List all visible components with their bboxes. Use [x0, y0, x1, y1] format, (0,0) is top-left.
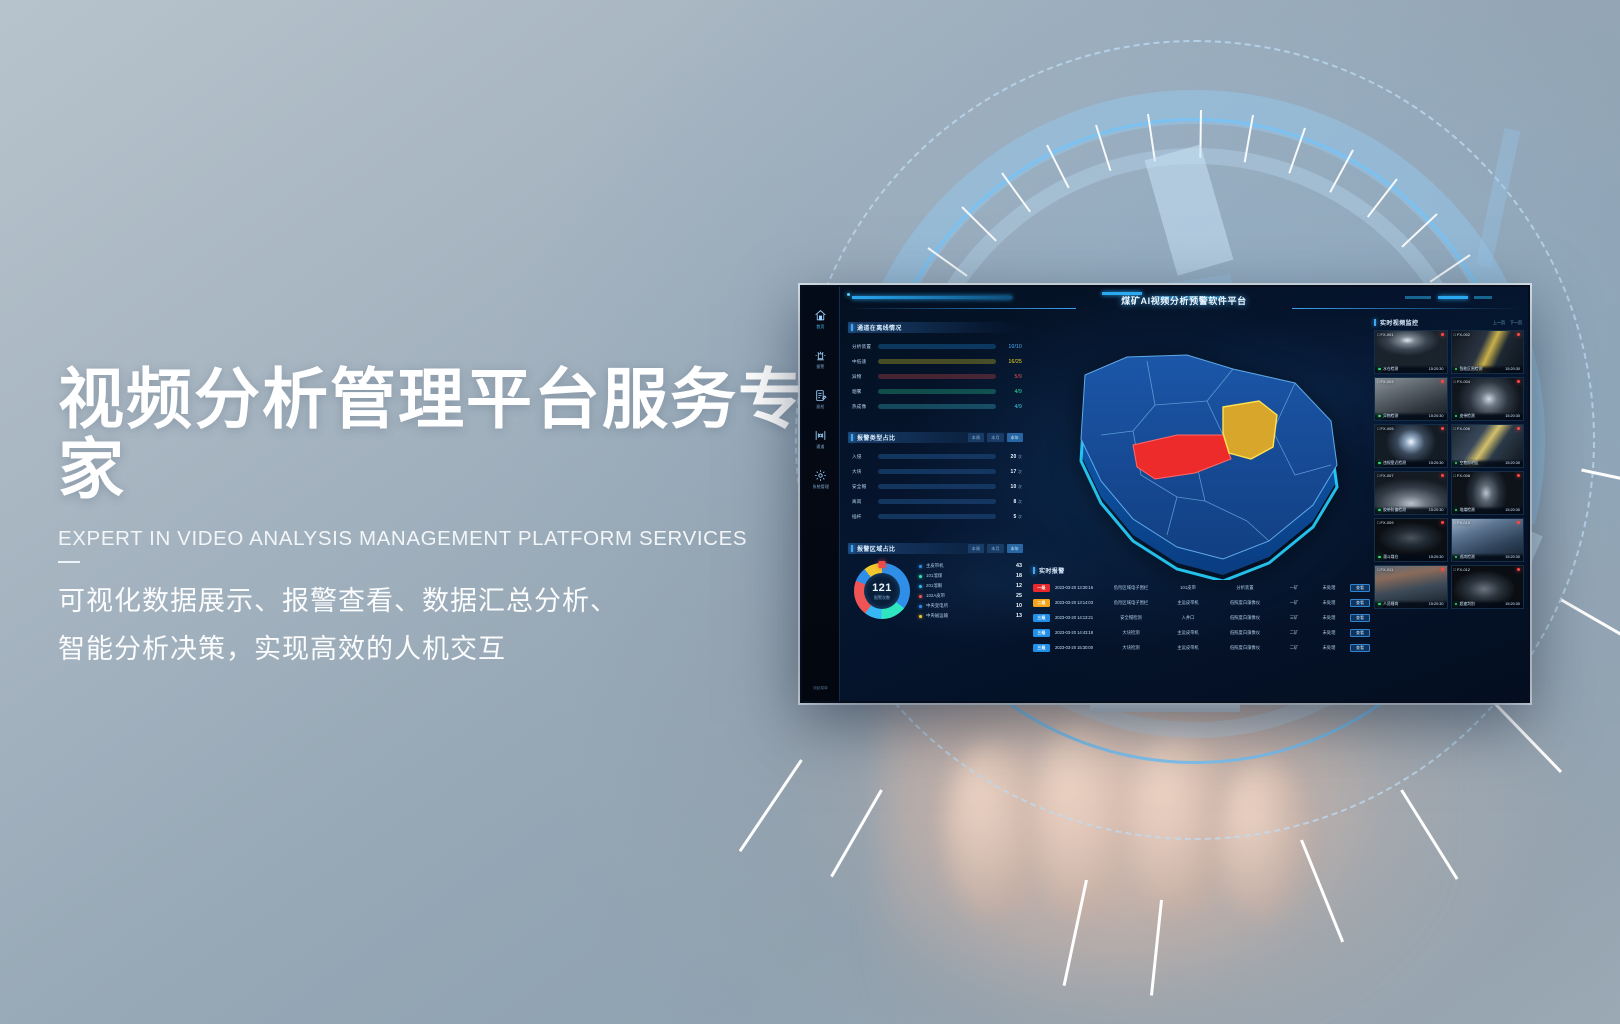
- channel-row-value: 16/25: [996, 359, 1022, 365]
- alarm-area-donut-chart[interactable]: 121 报警次数: [854, 563, 910, 619]
- channel-row: 异物5/9: [852, 369, 1022, 384]
- camera-code: □ FX-011: [1377, 568, 1393, 572]
- hero-divider: [58, 561, 80, 563]
- status-led-icon: [1378, 603, 1381, 606]
- camera-name: 水仓检测: [1383, 367, 1398, 372]
- hud-tick: [1329, 149, 1354, 192]
- alarm-area-chart-wrap: 121 报警次数 主皮带机43101溜煤18201溜眼12102A皮带25中央变…: [848, 554, 1026, 621]
- channel-row: 分析装置10/10: [852, 339, 1022, 354]
- video-cell-footer: 异物检测15:20:30: [1375, 412, 1447, 420]
- sidebar-item-alarm[interactable]: 报警: [814, 349, 827, 370]
- tab-本月[interactable]: 本月: [987, 433, 1003, 442]
- recording-indicator-icon: [1441, 474, 1444, 477]
- camera-timestamp: 15:20:30: [1429, 602, 1444, 606]
- channel-row-track: [878, 359, 996, 364]
- tab-本周[interactable]: 本周: [968, 544, 984, 553]
- realtime-alarm-panel: 实时报警 一级2023-03-20 13:30:16危险区域电子围栏101皮带分…: [1030, 565, 1370, 655]
- dashboard-screen: 首页 报警 巡检 通道: [802, 287, 1528, 701]
- alarm-type-value: 10次: [996, 484, 1022, 490]
- legend-label: 中央磁运输: [926, 613, 1016, 619]
- tab-本周[interactable]: 本周: [968, 433, 984, 442]
- ray-line-8: [1561, 599, 1620, 649]
- ray-line-3: [1063, 880, 1088, 986]
- channel-panel-title: 通道在离线情况: [857, 323, 902, 332]
- alarm-type-row: 大块17次: [852, 464, 1022, 479]
- recording-indicator-icon: [1441, 427, 1444, 430]
- alarm-time: 2023-03-20 14:13:21: [1050, 615, 1100, 620]
- alarm-type-label: 入侵: [852, 454, 878, 460]
- hud-tick: [1429, 255, 1470, 283]
- channel-row-label: 分析装置: [852, 344, 878, 350]
- alarm-type-row: 插杆5次: [852, 509, 1022, 524]
- video-cell[interactable]: □ FX-010巡岗检测15:20:30: [1451, 518, 1525, 562]
- alarm-type: 安全帽检测: [1100, 615, 1162, 621]
- province-map[interactable]: [1037, 335, 1367, 580]
- dashboard-header: 煤矿AI视频分析预警软件平台: [840, 287, 1528, 317]
- alarm-status: 未处理: [1312, 585, 1346, 591]
- alarm-type-label: 安全帽: [852, 484, 878, 490]
- video-cell-footer: 胶带防偏检测15:20:30: [1375, 506, 1447, 514]
- alarm-type-track: [878, 484, 996, 489]
- recording-indicator-icon: [1441, 380, 1444, 383]
- status-badge: 三级: [1033, 644, 1050, 652]
- hero-text-block: 视频分析管理平台服务专家 EXPERT IN VIDEO ANALYSIS MA…: [58, 365, 838, 673]
- alarm-type-label: 插杆: [852, 514, 878, 520]
- hud-tick: [1288, 128, 1306, 174]
- alarm-type-panel: 报警类型占比 本周本月本年 入侵20次大块17次安全帽10次离岗8次插杆5次: [848, 432, 1026, 524]
- alarm-time: 2023-03-20 15:30:00: [1050, 645, 1100, 650]
- tab-本月[interactable]: 本月: [987, 544, 1003, 553]
- status-led-icon: [1455, 462, 1458, 465]
- legend-item: 201溜眼12: [919, 581, 1022, 591]
- alarm-type-track: [878, 514, 996, 519]
- legend-item: 中央磁运输13: [919, 611, 1022, 621]
- table-row[interactable]: 三级2023-03-20 15:30:00大块检测主运皮带机低照度白藻像仪二矿未…: [1030, 640, 1370, 655]
- video-monitor-panel: 实时视频监控 上一页 下一页 □ FX-001水仓检测15:20:30□ FX-…: [1372, 317, 1526, 611]
- camera-timestamp: 15:20:30: [1429, 367, 1444, 371]
- camera-name: 超速判别: [1460, 602, 1475, 607]
- ray-line-5: [1300, 839, 1344, 942]
- ray-line-2: [830, 789, 883, 877]
- alarm-location: 入井口: [1162, 615, 1214, 621]
- donut-center-value: 121: [872, 582, 892, 594]
- legend-value: 13: [1016, 613, 1022, 619]
- video-pager[interactable]: 上一页 下一页: [1493, 320, 1526, 326]
- header-line-right: [1292, 308, 1522, 309]
- camera-code: □ FX-009: [1377, 521, 1394, 525]
- sidebar-item-home-label: 首页: [816, 324, 824, 330]
- hud-tick: [1095, 125, 1111, 171]
- recording-indicator-icon: [1517, 333, 1520, 336]
- recording-indicator-icon: [1517, 568, 1520, 571]
- hud-tick: [1367, 178, 1398, 217]
- hud-tick: [927, 247, 967, 277]
- camera-name: 堆煤检测: [1460, 508, 1475, 513]
- view-button[interactable]: 查看: [1350, 614, 1370, 622]
- alarm-status: 未处理: [1312, 615, 1346, 621]
- video-cell[interactable]: □ FX-009溜斗煤仓15:20:30: [1374, 518, 1448, 562]
- status-badge: 三级: [1033, 629, 1050, 637]
- alarm-type-track: [878, 454, 996, 459]
- hud-tick: [1001, 172, 1031, 212]
- dashboard-sidebar: 首页 报警 巡检 通道: [802, 287, 840, 701]
- status-led-icon: [1455, 415, 1458, 418]
- video-cell-footer: 智能区围检测15:20:30: [1452, 365, 1524, 373]
- hud-tick: [1401, 213, 1437, 247]
- video-panel-title: 实时视频监控: [1380, 318, 1418, 327]
- video-panel-header: 实时视频监控 上一页 下一页: [1372, 317, 1526, 328]
- alarm-device: 低照度白藻像仪: [1214, 600, 1276, 606]
- legend-value: 43: [1016, 563, 1022, 569]
- status-badge: 二级: [1033, 599, 1050, 607]
- camera-code: □ FX-007: [1377, 474, 1394, 478]
- camera-name: 皮带检测: [1460, 414, 1475, 419]
- view-button[interactable]: 查看: [1350, 644, 1370, 652]
- alarm-location: 主运皮带机: [1162, 645, 1214, 651]
- camera-code: □ FX-008: [1454, 474, 1471, 478]
- alarm-location: 主运皮带机: [1162, 600, 1214, 606]
- accent-shard-6: [1476, 128, 1521, 268]
- legend-color-dot: [919, 565, 922, 568]
- finger-shape-4: [1218, 760, 1308, 920]
- alarm-status: 未处理: [1312, 645, 1346, 651]
- map-svg: [1037, 335, 1367, 580]
- alarm-time: 2023-03-20 14:43:18: [1050, 630, 1100, 635]
- panel-accent-bar: [851, 324, 853, 331]
- sidebar-item-channel-label: 通道: [816, 444, 824, 450]
- status-led-icon: [1378, 368, 1381, 371]
- legend-color-dot: [919, 605, 922, 608]
- channel-row-value: 4/9: [996, 404, 1022, 410]
- camera-timestamp: 15:20:30: [1429, 555, 1444, 559]
- legend-label: 主皮带机: [926, 563, 1016, 569]
- camera-timestamp: 15:20:30: [1505, 414, 1520, 418]
- hero-description-line1: 可视化数据展示、报警查看、数据汇总分析、: [58, 577, 838, 625]
- video-cell-footer: 堆煤检测15:20:30: [1452, 506, 1524, 514]
- alarm-type: 大块检测: [1100, 645, 1162, 651]
- alarm-type: 大块检测: [1100, 630, 1162, 636]
- hud-tick: [1147, 113, 1156, 161]
- camera-name: 人员睡岗: [1383, 602, 1398, 607]
- alarm-mine: 三矿: [1276, 615, 1312, 621]
- camera-code: □ FX-002: [1454, 333, 1471, 337]
- alarm-type-value: 17次: [996, 469, 1022, 475]
- camera-code: □ FX-005: [1377, 427, 1394, 431]
- sidebar-collapse-label[interactable]: 收起菜单: [802, 686, 839, 691]
- sidebar-item-system-label: 系统管理: [812, 484, 829, 490]
- camera-timestamp: 15:20:30: [1505, 367, 1520, 371]
- video-cell-footer: 人员睡岗15:20:30: [1375, 600, 1447, 608]
- channel-row-value: 10/10: [996, 344, 1022, 350]
- finger-shape-3: [1130, 730, 1225, 915]
- legend-label: 201溜眼: [926, 583, 1016, 589]
- camera-timestamp: 15:20:30: [1505, 508, 1520, 512]
- dashboard-monitor: 首页 报警 巡检 通道: [800, 285, 1530, 703]
- sidebar-item-home[interactable]: 首页: [814, 309, 827, 330]
- gear-icon: [814, 469, 827, 482]
- video-cell-footer: 超速判别15:20:30: [1452, 600, 1524, 608]
- camera-timestamp: 15:20:30: [1505, 602, 1520, 606]
- channel-row-label: 中低速: [852, 359, 878, 365]
- channel-row-label: 异物: [852, 374, 878, 380]
- panel-accent-bar: [1374, 319, 1376, 326]
- camera-code: □ FX-012: [1454, 568, 1471, 572]
- video-cell[interactable]: □ FX-006空巷照明区15:20:30: [1451, 424, 1525, 468]
- donut-marker: [879, 561, 886, 568]
- camera-name: 胶带防偏检测: [1383, 508, 1406, 513]
- video-grid: □ FX-001水仓检测15:20:30□ FX-002智能区围检测15:20:…: [1372, 328, 1526, 611]
- realtime-alarm-header: 实时报警: [1030, 565, 1370, 576]
- alarm-type-row: 入侵20次: [852, 449, 1022, 464]
- alarm-type-panel-title: 报警类型占比: [857, 433, 895, 442]
- alarm-time: 2023-03-20 13:14:03: [1050, 600, 1100, 605]
- video-cell-footer: 皮带检测15:20:30: [1452, 412, 1524, 420]
- recording-indicator-icon: [1517, 380, 1520, 383]
- legend-color-dot: [919, 595, 922, 598]
- legend-item: 102A皮带25: [919, 591, 1022, 601]
- video-cell[interactable]: □ FX-003异物检测15:20:30: [1374, 377, 1448, 421]
- ray-line-9: [1581, 469, 1620, 491]
- alarm-time: 2023-03-20 13:30:16: [1050, 585, 1100, 590]
- tab-本年[interactable]: 本年: [1007, 433, 1023, 442]
- legend-item: 101溜煤18: [919, 571, 1022, 581]
- alarm-mine: 二矿: [1276, 630, 1312, 636]
- hud-tick: [1244, 115, 1254, 163]
- table-row[interactable]: 二级2023-03-20 13:14:03危险区域电子围栏主运皮带机低照度白藻像…: [1030, 595, 1370, 610]
- alarm-type-value: 8次: [996, 499, 1022, 505]
- status-led-icon: [1378, 556, 1381, 559]
- channel-row: 中低速16/25: [852, 354, 1022, 369]
- alarm-area-panel-header: 报警区域占比 本周本月本年: [848, 543, 1026, 554]
- camera-code: □ FX-004: [1454, 380, 1471, 384]
- channel-row-value: 4/9: [996, 389, 1022, 395]
- legend-value: 18: [1016, 573, 1022, 579]
- legend-color-dot: [919, 575, 922, 578]
- alarm-type-label: 大块: [852, 469, 878, 475]
- hero-description-line2: 智能分析决策，实现高效的人机交互: [58, 625, 838, 673]
- video-cell-footer: 空巷照明区15:20:30: [1452, 459, 1524, 467]
- legend-label: 102A皮带: [926, 593, 1016, 599]
- channel-row-track: [878, 389, 996, 394]
- ray-line-4: [1150, 900, 1163, 996]
- sidebar-item-system[interactable]: 系统管理: [812, 469, 830, 490]
- status-led-icon: [1378, 462, 1381, 465]
- recording-indicator-icon: [1517, 521, 1520, 524]
- status-led-icon: [1455, 556, 1458, 559]
- channel-status-panel: 通道在离线情况 分析装置10/10中低速16/25异物5/9烟雾4/9热成像4/…: [848, 322, 1026, 414]
- video-cell-footer: 水仓检测15:20:30: [1375, 365, 1447, 373]
- alarm-device: 低照度白藻像仪: [1214, 645, 1276, 651]
- hud-tick: [1199, 110, 1202, 158]
- camera-name: 巡岗检测: [1460, 555, 1475, 560]
- recording-indicator-icon: [1517, 427, 1520, 430]
- dashboard-title: 煤矿AI视频分析预警软件平台: [840, 294, 1528, 307]
- table-row[interactable]: 三级2023-03-20 14:13:21安全帽检测入井口低照度白藻像仪三矿未处…: [1030, 610, 1370, 625]
- alarm-type-track: [878, 469, 996, 474]
- alarm-type: 危险区域电子围栏: [1100, 600, 1162, 606]
- accent-shard-1: [1145, 144, 1234, 275]
- finger-shape-2: [1035, 720, 1130, 915]
- donut-center: 121 报警次数: [864, 573, 900, 609]
- ray-line-1: [739, 759, 803, 852]
- status-led-icon: [1455, 603, 1458, 606]
- alarm-type-value: 5次: [996, 514, 1022, 520]
- alarm-area-tab-group[interactable]: 本周本月本年: [968, 544, 1026, 553]
- video-cell[interactable]: □ FX-008堆煤检测15:20:30: [1451, 471, 1525, 515]
- ray-line-7: [1490, 699, 1562, 773]
- alarm-device: 低照度白藻像仪: [1214, 615, 1276, 621]
- channel-row: 热成像4/9: [852, 399, 1022, 414]
- header-line-left: [846, 308, 1076, 309]
- hud-tick: [961, 207, 996, 242]
- alarm-icon: [814, 349, 827, 362]
- video-cell-footer: 巡岗检测15:20:30: [1452, 553, 1524, 561]
- status-led-icon: [1378, 415, 1381, 418]
- legend-label: 101溜煤: [926, 573, 1016, 579]
- channel-row-label: 烟雾: [852, 389, 878, 395]
- status-led-icon: [1455, 509, 1458, 512]
- alarm-status: 未处理: [1312, 600, 1346, 606]
- camera-timestamp: 15:20:30: [1429, 508, 1444, 512]
- alarm-mine: 一矿: [1276, 585, 1312, 591]
- view-button[interactable]: 查看: [1350, 599, 1370, 607]
- video-cell[interactable]: □ FX-002智能区围检测15:20:30: [1451, 330, 1525, 374]
- alarm-type-track: [878, 499, 996, 504]
- camera-name: 空巷照明区: [1460, 461, 1479, 466]
- home-icon: [814, 309, 827, 322]
- status-badge: 一级: [1033, 584, 1050, 592]
- camera-code: □ FX-003: [1377, 380, 1394, 384]
- legend-value: 10: [1016, 603, 1022, 609]
- legend-color-dot: [919, 585, 922, 588]
- alarm-type: 危险区域电子围栏: [1100, 585, 1162, 591]
- camera-name: 溜斗煤仓: [1383, 555, 1398, 560]
- alarm-mine: 二矿: [1276, 645, 1312, 651]
- realtime-alarm-table: 一级2023-03-20 13:30:16危险区域电子围栏101皮带分析装置一矿…: [1030, 576, 1370, 655]
- alarm-device: 分析装置: [1214, 585, 1276, 591]
- inspection-icon: [814, 389, 827, 402]
- channel-icon: [814, 429, 827, 442]
- alarm-type-row: 安全帽10次: [852, 479, 1022, 494]
- prev-page-button[interactable]: 上一页: [1493, 320, 1505, 326]
- alarm-area-panel: 报警区域占比 本周本月本年 121 报警次数 主皮带机43101溜煤18201溜…: [848, 543, 1026, 621]
- camera-name: 异物检测: [1383, 414, 1398, 419]
- video-cell[interactable]: □ FX-007胶带防偏检测15:20:30: [1374, 471, 1448, 515]
- monitor-stand: [1090, 703, 1240, 712]
- channel-row-value: 5/9: [996, 374, 1022, 380]
- legend-value: 25: [1016, 593, 1022, 599]
- alarm-type-row: 离岗8次: [852, 494, 1022, 509]
- hud-tick: [1046, 145, 1069, 189]
- channel-row-label: 热成像: [852, 404, 878, 410]
- alarm-mine: 一矿: [1276, 600, 1312, 606]
- realtime-alarm-title: 实时报警: [1039, 566, 1065, 575]
- legend-item: 主皮带机43: [919, 561, 1022, 571]
- tab-本年[interactable]: 本年: [1007, 544, 1023, 553]
- channel-row-track: [878, 344, 996, 349]
- camera-name: 违规靠近检测: [1383, 461, 1406, 466]
- donut-legend: 主皮带机43101溜煤18201溜眼12102A皮带25中央变电所10中央磁运输…: [910, 561, 1022, 621]
- video-cell-footer: 溜斗煤仓15:20:30: [1375, 553, 1447, 561]
- recording-indicator-icon: [1441, 568, 1444, 571]
- video-cell[interactable]: □ FX-004皮带检测15:20:30: [1451, 377, 1525, 421]
- status-badge: 三级: [1033, 614, 1050, 622]
- camera-timestamp: 15:20:30: [1505, 555, 1520, 559]
- camera-code: □ FX-001: [1377, 333, 1394, 337]
- table-row[interactable]: 一级2023-03-20 13:30:16危险区域电子围栏101皮带分析装置一矿…: [1030, 580, 1370, 595]
- alarm-type-tab-group[interactable]: 本周本月本年: [968, 433, 1026, 442]
- recording-indicator-icon: [1517, 474, 1520, 477]
- camera-code: □ FX-010: [1454, 521, 1471, 525]
- video-cell[interactable]: □ FX-001水仓检测15:20:30: [1374, 330, 1448, 374]
- sidebar-item-alarm-label: 报警: [816, 364, 824, 370]
- recording-indicator-icon: [1441, 521, 1444, 524]
- alarm-type-label: 离岗: [852, 499, 878, 505]
- alarm-type-panel-header: 报警类型占比 本周本月本年: [848, 432, 1026, 443]
- channel-panel-header: 通道在离线情况: [848, 322, 1026, 333]
- channel-row: 烟雾4/9: [852, 384, 1022, 399]
- alarm-location: 101皮带: [1162, 585, 1214, 591]
- alarm-device: 低照度白藻像仪: [1214, 630, 1276, 636]
- sidebar-item-inspection[interactable]: 巡检: [814, 389, 827, 410]
- alarm-status: 未处理: [1312, 630, 1346, 636]
- alarm-location: 主运皮带机: [1162, 630, 1214, 636]
- recording-indicator-icon: [1441, 333, 1444, 336]
- legend-value: 12: [1016, 583, 1022, 589]
- table-row[interactable]: 三级2023-03-20 14:43:18大块检测主运皮带机低照度白藻像仪二矿未…: [1030, 625, 1370, 640]
- video-cell[interactable]: □ FX-005违规靠近检测15:20:30: [1374, 424, 1448, 468]
- video-cell[interactable]: □ FX-011人员睡岗15:20:30: [1374, 565, 1448, 609]
- donut-center-label: 报警次数: [874, 595, 890, 601]
- channel-row-track: [878, 374, 996, 379]
- page-title: 视频分析管理平台服务专家: [58, 365, 838, 505]
- camera-code: □ FX-006: [1454, 427, 1471, 431]
- legend-label: 中央变电所: [926, 603, 1016, 609]
- legend-item: 中央变电所10: [919, 601, 1022, 611]
- panel-accent-bar: [851, 434, 853, 441]
- next-page-button[interactable]: 下一页: [1510, 320, 1522, 326]
- hero-subtitle-english: EXPERT IN VIDEO ANALYSIS MANAGEMENT PLAT…: [58, 527, 838, 551]
- panel-accent-bar: [1033, 567, 1035, 574]
- status-led-icon: [1455, 368, 1458, 371]
- alarm-type-rows: 入侵20次大块17次安全帽10次离岗8次插杆5次: [848, 443, 1026, 524]
- status-led-icon: [1378, 509, 1381, 512]
- alarm-type-value: 20次: [996, 454, 1022, 460]
- channel-rows: 分析装置10/10中低速16/25异物5/9烟雾4/9热成像4/9: [848, 333, 1026, 414]
- camera-timestamp: 15:20:30: [1505, 461, 1520, 465]
- video-cell-footer: 违规靠近检测15:20:30: [1375, 459, 1447, 467]
- video-cell[interactable]: □ FX-012超速判别15:20:30: [1451, 565, 1525, 609]
- camera-name: 智能区围检测: [1460, 367, 1483, 372]
- legend-color-dot: [919, 615, 922, 618]
- sidebar-item-inspection-label: 巡检: [816, 404, 824, 410]
- alarm-area-panel-title: 报警区域占比: [857, 544, 895, 553]
- view-button[interactable]: 查看: [1350, 629, 1370, 637]
- camera-timestamp: 15:20:30: [1429, 414, 1444, 418]
- view-button[interactable]: 查看: [1350, 584, 1370, 592]
- ray-line-6: [1400, 789, 1458, 880]
- sidebar-item-channel[interactable]: 通道: [814, 429, 827, 450]
- panel-accent-bar: [851, 545, 853, 552]
- finger-shape-1: [945, 740, 1040, 920]
- channel-row-track: [878, 404, 996, 409]
- camera-timestamp: 15:20:30: [1429, 461, 1444, 465]
